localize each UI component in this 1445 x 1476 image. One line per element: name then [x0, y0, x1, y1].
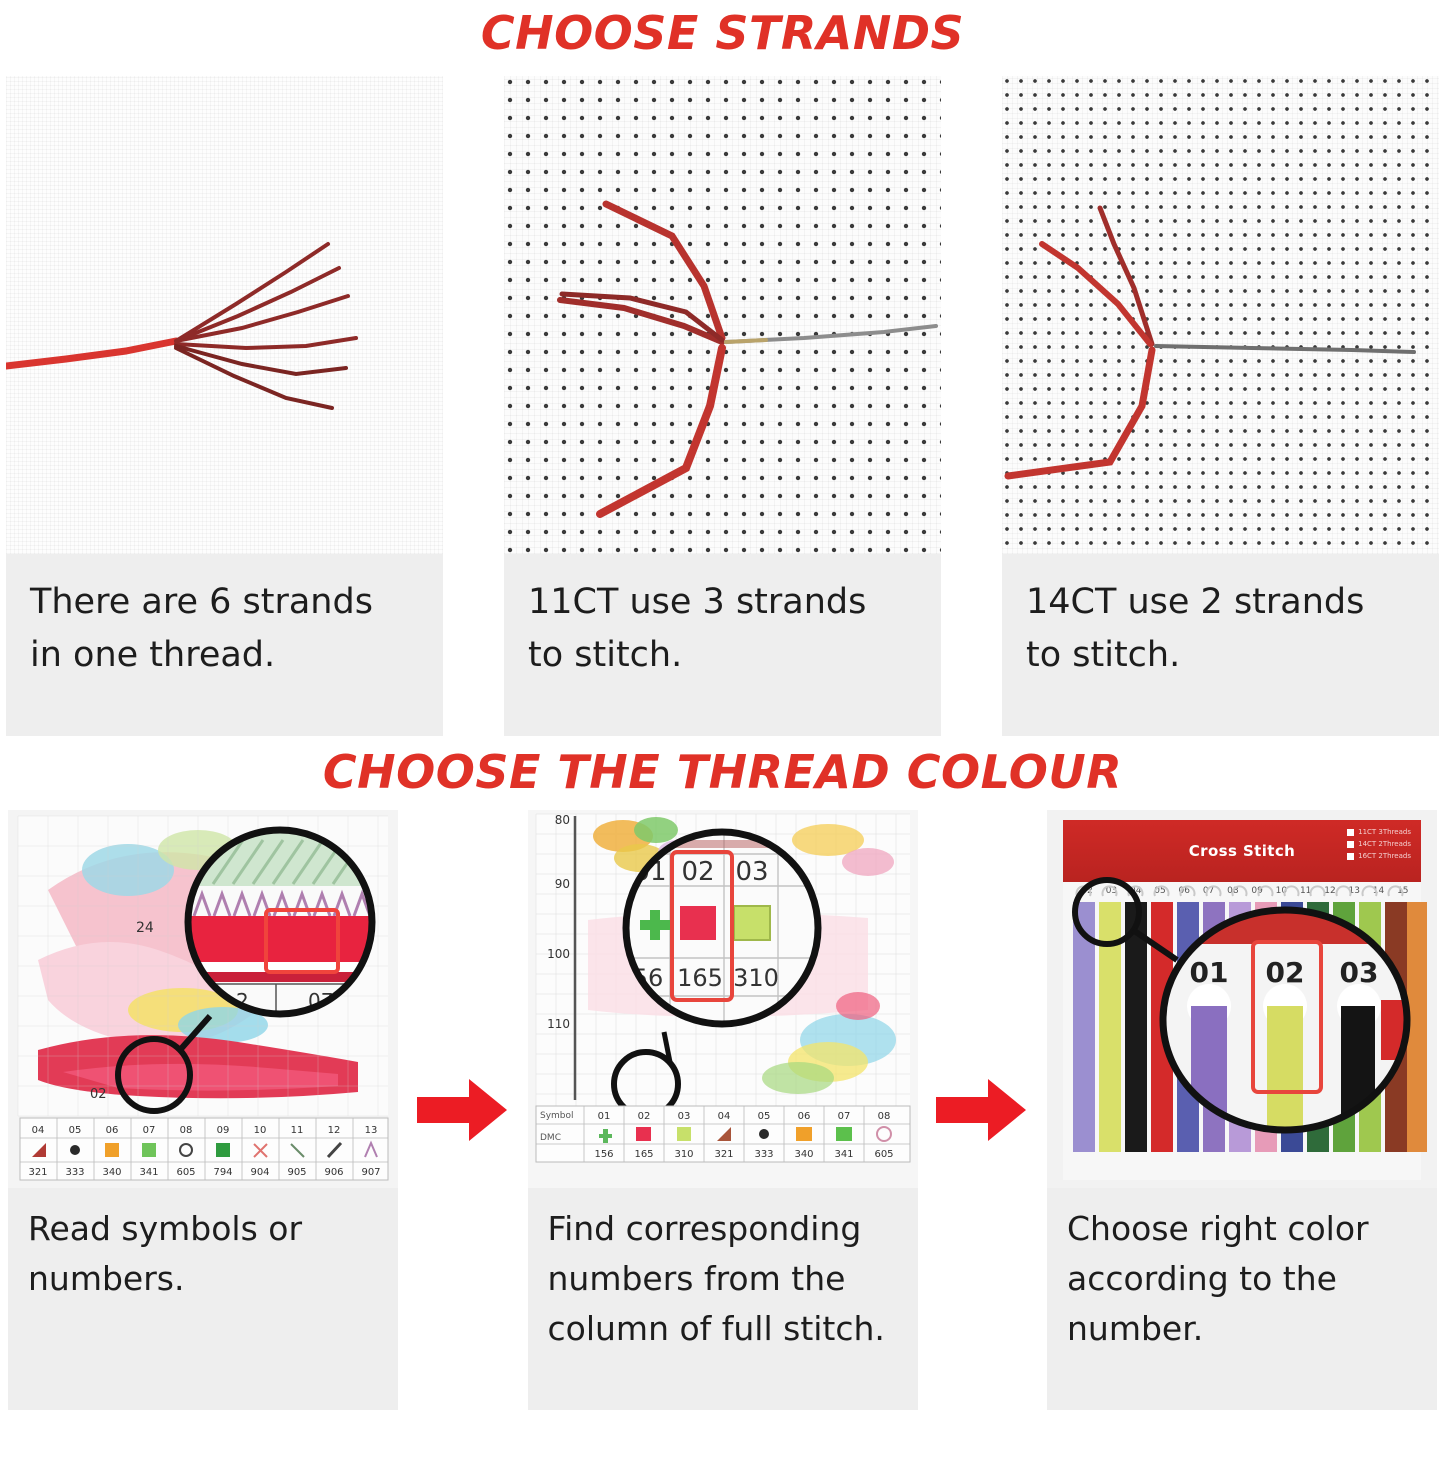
svg-text:13: 13: [365, 1125, 378, 1136]
stitch-number-label: 02: [90, 1087, 107, 1102]
svg-text:04: 04: [717, 1111, 730, 1122]
svg-text:310: 310: [733, 964, 779, 992]
legend-table: 040506 070809 10111213: [20, 1118, 388, 1180]
svg-text:321: 321: [28, 1167, 47, 1178]
photo-14ct-aida-with-needle: [1002, 76, 1439, 554]
caption-line: Read symbols or: [28, 1204, 378, 1254]
svg-text:03: 03: [735, 857, 768, 887]
svg-text:100: 100: [547, 947, 570, 961]
magnified-numbers: 56 165 310: [632, 964, 778, 992]
svg-text:794: 794: [213, 1167, 232, 1178]
stitched-pattern-illustration: 2 07 02 24: [8, 810, 398, 1188]
card-11ct: 11CT use 3 strands to stitch.: [504, 76, 941, 736]
svg-text:333: 333: [65, 1167, 84, 1178]
svg-text:01: 01: [597, 1111, 610, 1122]
card-find-numbers: 80 90 100 110: [528, 810, 918, 1410]
infographic-page: CHOOSE STRANDS T: [0, 0, 1445, 1476]
card-choose-color: Cross Stitch 11CT 3Threads 14CT 2Threads: [1047, 810, 1437, 1410]
svg-text:11: 11: [291, 1125, 304, 1136]
svg-text:09: 09: [217, 1125, 230, 1136]
svg-text:12: 12: [328, 1125, 341, 1136]
svg-text:341: 341: [834, 1149, 853, 1160]
svg-text:165: 165: [677, 964, 723, 992]
svg-text:DMC: DMC: [540, 1133, 561, 1143]
photo-11ct-aida-with-needle: [504, 76, 941, 554]
thread-skeins-illustration: 01 02 03: [1047, 810, 1437, 1188]
caption-line: Find corresponding: [548, 1204, 898, 1254]
caption-line: in one thread.: [30, 629, 419, 682]
magnified-symbols: [640, 906, 770, 940]
caption-line: to stitch.: [528, 629, 917, 682]
card-read-symbols: 2 07 02 24: [8, 810, 398, 1410]
svg-text:341: 341: [139, 1167, 158, 1178]
svg-text:333: 333: [754, 1149, 773, 1160]
photo-six-strands-on-white-fabric: [6, 76, 443, 554]
svg-text:80: 80: [554, 813, 569, 827]
photo-printed-chart-with-magnifier: 80 90 100 110: [528, 810, 918, 1188]
svg-text:340: 340: [794, 1149, 813, 1160]
caption-line: 14CT use 2 strands: [1026, 576, 1415, 629]
svg-text:310: 310: [674, 1149, 693, 1160]
svg-text:321: 321: [714, 1149, 733, 1160]
strands-card-row: There are 6 strands in one thread.: [0, 64, 1445, 736]
svg-text:905: 905: [287, 1167, 306, 1178]
caption-line: There are 6 strands: [30, 576, 419, 629]
svg-text:06: 06: [797, 1111, 810, 1122]
caption-choose-color: Choose right color according to the numb…: [1047, 1188, 1437, 1410]
colour-card-row: 2 07 02 24: [0, 802, 1445, 1410]
six-strands-illustration: [6, 76, 443, 554]
svg-text:05: 05: [69, 1125, 82, 1136]
svg-text:110: 110: [547, 1017, 570, 1031]
caption-line: 11CT use 3 strands: [528, 576, 917, 629]
svg-text:06: 06: [106, 1125, 119, 1136]
photo-stitched-pattern-with-magnifier: 2 07 02 24: [8, 810, 398, 1188]
svg-text:05: 05: [757, 1111, 770, 1122]
two-strands-needle-illustration: [1002, 76, 1439, 554]
caption-14ct: 14CT use 2 strands to stitch.: [1002, 554, 1439, 736]
cell-number-label: 24: [136, 920, 154, 936]
next-step-arrow-2: [926, 921, 1038, 1299]
svg-text:04: 04: [32, 1125, 45, 1136]
three-strands-needle-illustration: [504, 76, 941, 554]
caption-line: to stitch.: [1026, 629, 1415, 682]
caption-line: Choose right color: [1067, 1204, 1417, 1254]
svg-text:08: 08: [877, 1111, 890, 1122]
caption-find-numbers: Find corresponding numbers from the colu…: [528, 1188, 918, 1410]
next-step-arrow-1: [407, 921, 519, 1299]
svg-text:10: 10: [254, 1125, 267, 1136]
svg-text:340: 340: [102, 1167, 121, 1178]
svg-text:904: 904: [250, 1167, 269, 1178]
svg-text:07: 07: [837, 1111, 850, 1122]
caption-line: column of full stitch.: [548, 1304, 898, 1354]
caption-line: numbers.: [28, 1254, 378, 1304]
svg-text:08: 08: [180, 1125, 193, 1136]
svg-text:90: 90: [554, 877, 569, 891]
photo-thread-card-with-magnifier: Cross Stitch 11CT 3Threads 14CT 2Threads: [1047, 810, 1437, 1188]
caption-six-strands: There are 6 strands in one thread.: [6, 554, 443, 736]
full-stitch-table: Symbol DMC 01020304 05060708: [536, 1106, 910, 1162]
card-14ct: 14CT use 2 strands to stitch.: [1002, 76, 1439, 736]
svg-text:02: 02: [637, 1111, 650, 1122]
svg-text:07: 07: [143, 1125, 156, 1136]
svg-text:906: 906: [324, 1167, 343, 1178]
card-six-strands: There are 6 strands in one thread.: [6, 76, 443, 736]
svg-text:03: 03: [677, 1111, 690, 1122]
caption-line: numbers from the: [548, 1254, 898, 1304]
printed-chart-illustration: 80 90 100 110: [528, 810, 918, 1188]
caption-11ct: 11CT use 3 strands to stitch.: [504, 554, 941, 736]
svg-text:605: 605: [874, 1149, 893, 1160]
arrow-right-icon: [417, 1075, 509, 1145]
svg-text:Symbol: Symbol: [540, 1111, 574, 1121]
svg-text:02: 02: [681, 857, 714, 887]
arrow-right-icon: [936, 1075, 1028, 1145]
svg-text:156: 156: [594, 1149, 613, 1160]
section-heading-choose-thread-colour: CHOOSE THE THREAD COLOUR: [0, 736, 1445, 802]
caption-line: number.: [1067, 1304, 1417, 1354]
svg-text:165: 165: [634, 1149, 653, 1160]
svg-text:907: 907: [361, 1167, 380, 1178]
caption-line: according to the: [1067, 1254, 1417, 1304]
svg-text:605: 605: [176, 1167, 195, 1178]
caption-read-symbols: Read symbols or numbers.: [8, 1188, 398, 1410]
section-heading-choose-strands: CHOOSE STRANDS: [0, 0, 1445, 64]
